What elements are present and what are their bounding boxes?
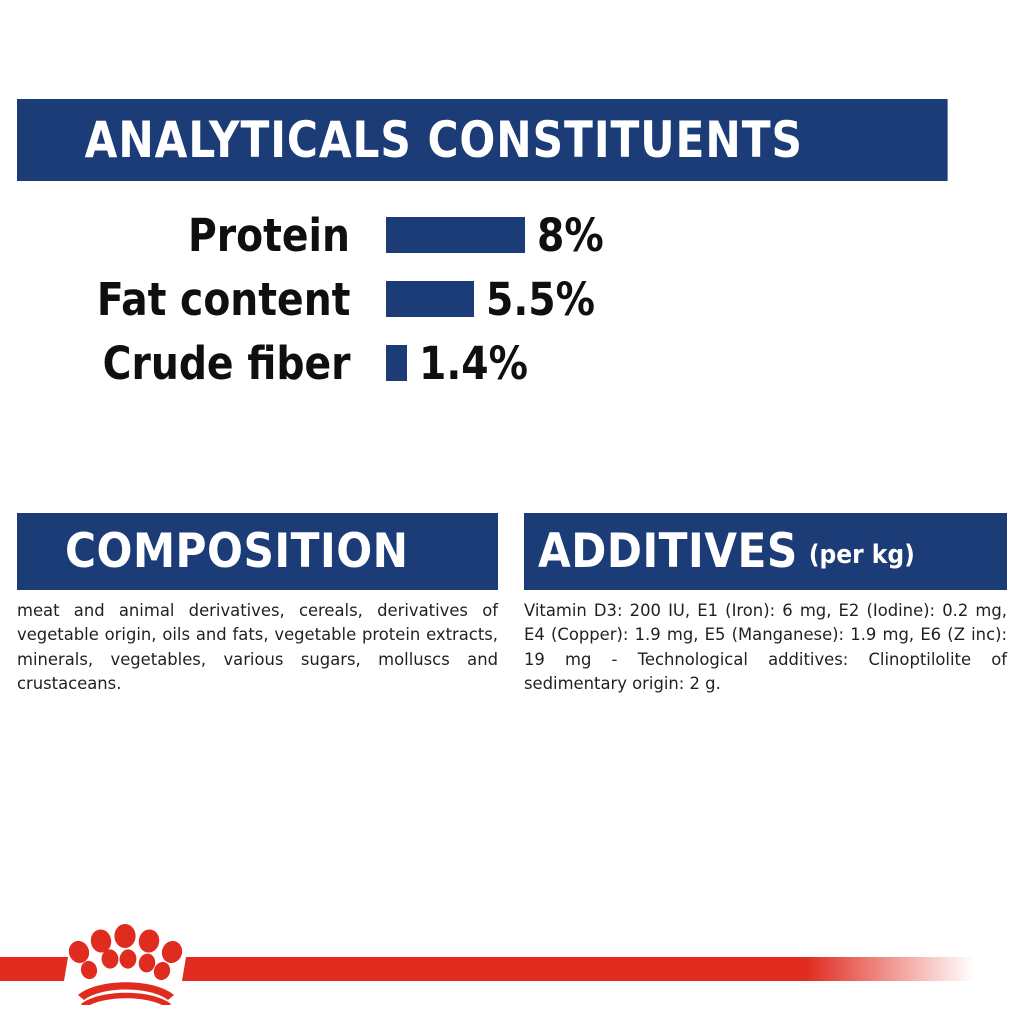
additives-body-text: Vitamin D3: 200 IU, E1 (Iron): 6 mg, E2 … (524, 599, 1007, 697)
nutrient-bar-track (386, 281, 474, 317)
additives-title-text: ADDITIVES (538, 524, 798, 579)
nutrient-label: Crude fiber (102, 336, 350, 400)
nutrient-value: 8% (537, 208, 604, 272)
additives-header: ADDITIVES (per kg) (524, 513, 1007, 590)
composition-header: COMPOSITION (17, 513, 498, 590)
nutrient-label: Fat content (96, 272, 350, 336)
royal-canin-crown-logo (68, 921, 184, 1005)
nutrient-row: Crude fiber 1.4% (0, 336, 1024, 400)
composition-body-text: meat and animal derivatives, cereals, de… (17, 599, 498, 697)
composition-title-text: COMPOSITION (65, 524, 409, 579)
nutrient-value: 5.5% (486, 272, 595, 336)
nutrient-row: Fat content 5.5% (0, 272, 1024, 336)
additives-section: ADDITIVES (per kg) Vitamin D3: 200 IU, E… (524, 513, 1007, 697)
nutrient-bar-track (386, 217, 525, 253)
nutrient-bar-fill (386, 281, 474, 317)
composition-section: COMPOSITION meat and animal derivatives,… (17, 513, 498, 697)
nutrient-bar-fill (386, 345, 407, 381)
analyticals-title-text: ANALYTICALS CONSTITUENTS (85, 111, 803, 169)
nutrient-bar-track (386, 345, 407, 381)
nutrient-bar-fill (386, 217, 525, 253)
additives-subtitle-text: (per kg) (809, 540, 915, 570)
analyticals-bar-chart: Protein 8% Fat content 5.5% Crude fiber … (0, 208, 1024, 400)
nutrient-label: Protein (188, 208, 350, 272)
analyticals-constituents-header: ANALYTICALS CONSTITUENTS (17, 99, 948, 181)
nutrient-row: Protein 8% (0, 208, 1024, 272)
nutrition-panel: ANALYTICALS CONSTITUENTS Protein 8% Fat … (0, 0, 1024, 1024)
nutrient-value: 1.4% (419, 336, 528, 400)
